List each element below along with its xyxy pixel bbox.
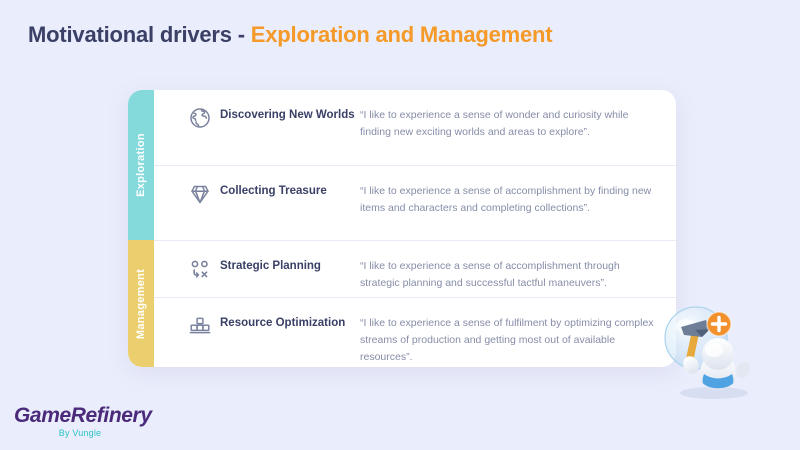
globe-icon (180, 104, 220, 130)
rail-segment-management: Management (128, 240, 154, 367)
drivers-card: Exploration Management Discovering New W… (128, 90, 676, 367)
mascot-illustration (648, 296, 778, 400)
strategy-icon (180, 255, 220, 281)
driver-quote: “I like to experience a sense of fulfilm… (360, 312, 654, 366)
page-title-main: Motivational drivers - (28, 22, 251, 47)
page-title-accent: Exploration and Management (251, 22, 553, 47)
driver-row: Collecting Treasure “I like to experienc… (154, 165, 676, 240)
rail-label-management: Management (135, 268, 147, 338)
driver-title: Strategic Planning (220, 255, 360, 274)
driver-row: Strategic Planning “I like to experience… (154, 240, 676, 297)
driver-row: Discovering New Worlds “I like to experi… (154, 90, 676, 165)
logo-wordmark: GameRefinery (14, 405, 164, 427)
rail-label-exploration: Exploration (135, 133, 147, 197)
driver-title: Discovering New Worlds (220, 104, 360, 123)
driver-title: Collecting Treasure (220, 180, 360, 199)
logo-tagline: By Vungle (14, 428, 146, 438)
driver-quote: “I like to experience a sense of accompl… (360, 180, 654, 217)
blocks-icon (180, 312, 220, 338)
driver-rows: Discovering New Worlds “I like to experi… (154, 90, 676, 367)
driver-quote: “I like to experience a sense of wonder … (360, 104, 654, 141)
driver-quote: “I like to experience a sense of accompl… (360, 255, 654, 292)
diamond-icon (180, 180, 220, 206)
gamerefinery-logo: GameRefinery By Vungle (14, 405, 164, 445)
category-rail: Exploration Management (128, 90, 154, 367)
plus-badge-icon (707, 312, 731, 336)
rail-segment-exploration: Exploration (128, 90, 154, 240)
driver-row: Resource Optimization “I like to experie… (154, 297, 676, 367)
page-title: Motivational drivers - Exploration and M… (28, 22, 552, 48)
driver-title: Resource Optimization (220, 312, 360, 331)
slide-root: Motivational drivers - Exploration and M… (0, 0, 800, 450)
